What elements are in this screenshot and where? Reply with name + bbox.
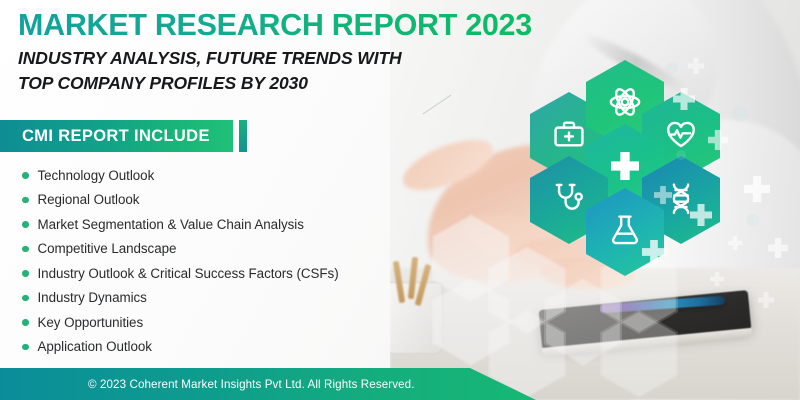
floating-cross-icon — [744, 176, 770, 202]
list-item: Technology Outlook — [22, 163, 339, 188]
bokeh-dot — [746, 214, 759, 227]
bullet-dot-icon — [22, 172, 29, 179]
list-item-label: Industry Outlook & Critical Success Fact… — [38, 266, 339, 281]
floating-cross-icon — [688, 58, 704, 74]
page-subtitle: INDUSTRY ANALYSIS, FUTURE TRENDS WITH TO… — [18, 46, 438, 96]
bullet-dot-icon — [22, 295, 29, 302]
text-content: MARKET RESEARCH REPORT 2023 INDUSTRY ANA… — [0, 0, 470, 400]
bullet-dot-icon — [22, 270, 29, 277]
list-item: Industry Outlook & Critical Success Fact… — [22, 261, 339, 286]
first-aid-kit-icon — [552, 117, 586, 156]
list-item: Market Segmentation & Value Chain Analys… — [22, 212, 339, 237]
floating-cross-icon — [728, 236, 742, 250]
list-item-label: Application Outlook — [38, 339, 152, 354]
stethoscope-icon — [552, 181, 586, 220]
atom-icon — [608, 85, 642, 124]
bokeh-dot — [666, 62, 678, 74]
list-item-label: Competitive Landscape — [38, 241, 177, 256]
list-item-label: Key Opportunities — [38, 315, 144, 330]
list-item-label: Market Segmentation & Value Chain Analys… — [38, 217, 304, 232]
flask-icon — [608, 213, 642, 252]
bokeh-dot — [732, 106, 748, 122]
list-item: Competitive Landscape — [22, 237, 339, 262]
list-item: Application Outlook — [22, 335, 339, 360]
bullet-dot-icon — [22, 197, 29, 204]
list-item: Industry Dynamics — [22, 286, 339, 311]
floating-cross-icon — [758, 292, 774, 308]
ribbon-accent-tick — [239, 120, 247, 152]
page-title: MARKET RESEARCH REPORT 2023 — [18, 8, 532, 43]
footer-bar: © 2023 Coherent Market Insights Pvt Ltd.… — [0, 368, 536, 400]
ribbon-label: CMI REPORT INCLUDE — [22, 127, 210, 146]
report-include-list: Technology Outlook Regional Outlook Mark… — [22, 163, 339, 359]
list-item-label: Technology Outlook — [38, 168, 155, 183]
market-research-banner: MARKET RESEARCH REPORT 2023 INDUSTRY ANA… — [0, 0, 800, 400]
list-item-label: Regional Outlook — [38, 192, 140, 207]
bullet-dot-icon — [22, 221, 29, 228]
cmi-report-include-ribbon: CMI REPORT INCLUDE — [0, 120, 233, 152]
list-item: Key Opportunities — [22, 310, 339, 335]
bokeh-dot — [676, 150, 686, 160]
floating-cross-icon — [710, 272, 724, 286]
floating-cross-icon — [768, 238, 788, 258]
list-item-label: Industry Dynamics — [38, 290, 147, 305]
list-item: Regional Outlook — [22, 188, 339, 213]
bullet-dot-icon — [22, 246, 29, 253]
copyright-text: © 2023 Coherent Market Insights Pvt Ltd.… — [88, 378, 415, 391]
bullet-dot-icon — [22, 319, 29, 326]
bullet-dot-icon — [22, 344, 29, 351]
medical-cross-icon — [608, 149, 642, 188]
